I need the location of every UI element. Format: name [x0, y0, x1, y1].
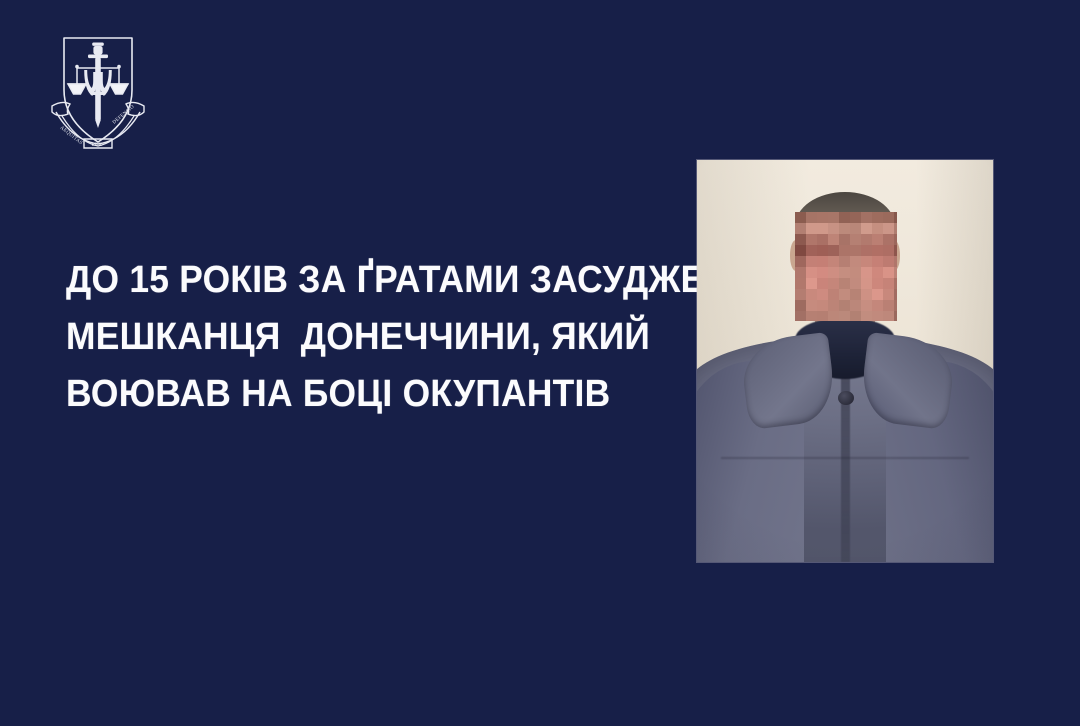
headline: ДО 15 РОКІВ ЗА ҐРАТАМИ ЗАСУДЖЕНО МЕШКАНЦ…	[66, 252, 666, 423]
prosecutor-emblem-icon: AEQUITAS LEX DEFENSIO	[44, 28, 152, 156]
headline-line-1: ДО 15 РОКІВ ЗА ҐРАТАМИ ЗАСУДЖЕНО	[66, 252, 624, 309]
photo-jacket-button	[838, 391, 854, 405]
headline-line-3: ВОЮВАВ НА БОЦІ ОКУПАНТІВ	[66, 366, 624, 423]
prosecutor-emblem: AEQUITAS LEX DEFENSIO	[44, 28, 152, 156]
trident-icon	[84, 70, 112, 96]
news-poster: AEQUITAS LEX DEFENSIO ДО 15 РОКІВ ЗА ҐРА…	[0, 0, 1080, 726]
headline-line-2: МЕШКАНЦЯ ДОНЕЧЧИНИ, ЯКИЙ	[66, 309, 624, 366]
convicted-man-photo	[697, 160, 993, 562]
photo-face-pixelation	[795, 212, 897, 321]
ribbon-text-center: LEX	[92, 143, 103, 148]
photo-content	[697, 160, 993, 562]
